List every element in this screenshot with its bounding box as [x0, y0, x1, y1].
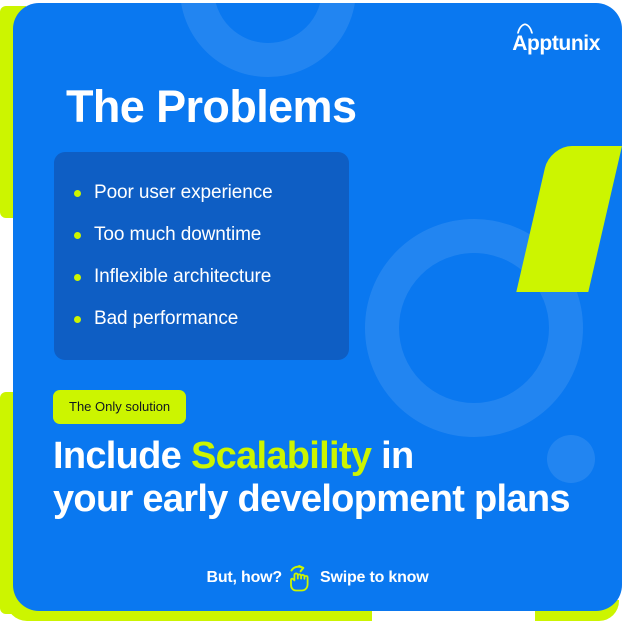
swipe-hand-icon — [286, 563, 313, 593]
bullet-dot-icon — [74, 316, 81, 323]
bullet-dot-icon — [74, 232, 81, 239]
list-item: Too much downtime — [74, 224, 349, 246]
status-badge: The Only solution — [53, 390, 186, 424]
bullet-dot-icon — [74, 274, 81, 281]
list-item-label: Poor user experience — [94, 182, 273, 204]
footer-question: But, how? — [206, 569, 282, 587]
logo-arch-circumflex-icon — [512, 23, 600, 34]
solution-text-before: Include — [53, 435, 191, 477]
solution-highlight: Scalability — [191, 435, 371, 477]
decorative-ring-top-icon — [180, 3, 356, 77]
solution-line-two: your early development plans — [53, 478, 570, 520]
brand-logo: Apptunix — [512, 23, 600, 54]
list-item: Bad performance — [74, 308, 349, 330]
footer-cta: But, how? Swipe to know — [13, 563, 622, 593]
problems-list: Poor user experience Too much downtime I… — [54, 152, 349, 360]
lime-wedge-shape-icon — [516, 146, 622, 292]
main-card: Apptunix The Problems Poor user experien… — [13, 3, 622, 611]
list-item-label: Bad performance — [94, 308, 238, 330]
list-item: Poor user experience — [74, 182, 349, 204]
page-title: The Problems — [66, 81, 356, 133]
logo-text: Apptunix — [512, 33, 600, 54]
bullet-dot-icon — [74, 190, 81, 197]
solution-text-after: in — [371, 435, 413, 477]
slide-canvas: Apptunix The Problems Poor user experien… — [0, 0, 622, 621]
solution-headline: Include Scalability in your early develo… — [53, 435, 583, 520]
footer-cta-label: Swipe to know — [320, 569, 429, 587]
list-item: Inflexible architecture — [74, 266, 349, 288]
list-item-label: Too much downtime — [94, 224, 261, 246]
list-item-label: Inflexible architecture — [94, 266, 271, 288]
